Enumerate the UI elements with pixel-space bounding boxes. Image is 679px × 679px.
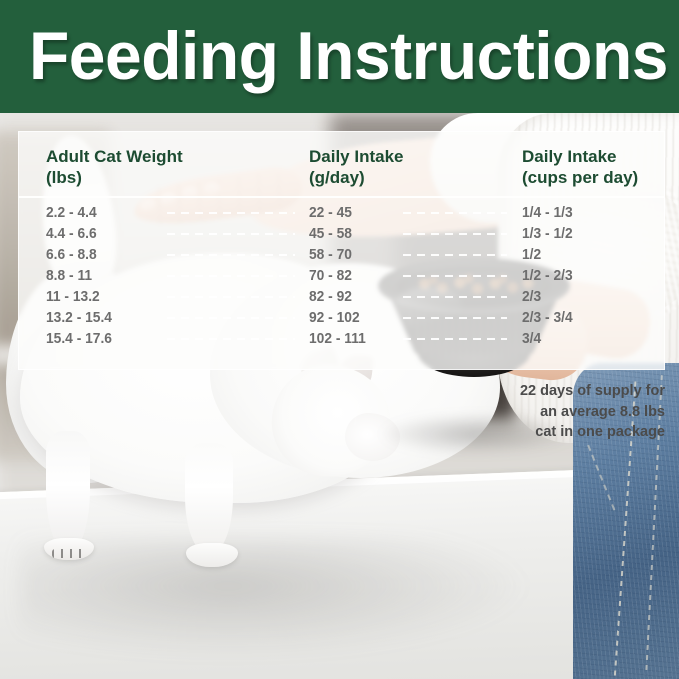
column-header-daily-intake-cups: Daily Intake (cups per day) — [522, 146, 638, 188]
table-row: 2.2 - 4.4 22 - 45 1/4 - 1/3 — [19, 202, 664, 223]
table-row: 13.2 - 15.4 92 - 102 2/3 - 3/4 — [19, 307, 664, 328]
cell-weight: 11 - 13.2 — [46, 286, 100, 307]
column-header-adult-cat-weight: Adult Cat Weight (lbs) — [46, 146, 183, 188]
cell-weight: 6.6 - 8.8 — [46, 244, 97, 265]
leader-dots — [403, 275, 507, 277]
cell-cups: 2/3 — [522, 286, 541, 307]
leader-dots — [403, 254, 507, 256]
cell-grams: 22 - 45 — [309, 202, 352, 223]
leader-dots — [167, 212, 295, 214]
header-divider — [19, 196, 664, 198]
leader-dots — [403, 233, 507, 235]
table-row: 4.4 - 6.6 45 - 58 1/3 - 1/2 — [19, 223, 664, 244]
leader-dots — [167, 317, 295, 319]
feeding-chart-header-row: Adult Cat Weight (lbs) Daily Intake (g/d… — [19, 132, 664, 196]
cell-weight: 13.2 - 15.4 — [46, 307, 112, 328]
cell-weight: 4.4 - 6.6 — [46, 223, 97, 244]
cell-weight: 15.4 - 17.6 — [46, 328, 112, 349]
feeding-chart-rows: 2.2 - 4.4 22 - 45 1/4 - 1/3 4.4 - 6.6 45… — [19, 202, 664, 349]
cell-grams: 70 - 82 — [309, 265, 352, 286]
leader-dots — [403, 212, 507, 214]
cell-cups: 1/4 - 1/3 — [522, 202, 573, 223]
cell-grams: 58 - 70 — [309, 244, 352, 265]
feeding-chart-card: Adult Cat Weight (lbs) Daily Intake (g/d… — [18, 131, 665, 370]
counter-shadow — [20, 538, 540, 658]
leader-dots — [167, 254, 295, 256]
leader-dots — [167, 275, 295, 277]
cat-claws — [52, 549, 86, 558]
column-header-daily-intake-grams: Daily Intake (g/day) — [309, 146, 404, 188]
leader-dots — [167, 233, 295, 235]
table-row: 15.4 - 17.6 102 - 111 3/4 — [19, 328, 664, 349]
cat-hind-leg — [46, 431, 90, 551]
cell-cups: 1/3 - 1/2 — [522, 223, 573, 244]
header-banner: Feeding Instructions — [0, 0, 679, 113]
supply-duration-note: 22 days of supply for an average 8.8 lbs… — [470, 381, 665, 443]
cell-cups: 1/2 - 2/3 — [522, 265, 573, 286]
cell-cups: 3/4 — [522, 328, 541, 349]
cell-grams: 45 - 58 — [309, 223, 352, 244]
cell-grams: 92 - 102 — [309, 307, 360, 328]
leader-dots — [167, 338, 295, 340]
cell-cups: 2/3 - 3/4 — [522, 307, 573, 328]
leader-dots — [403, 317, 507, 319]
cell-grams: 82 - 92 — [309, 286, 352, 307]
cell-cups: 1/2 — [522, 244, 541, 265]
table-row: 8.8 - 11 70 - 82 1/2 - 2/3 — [19, 265, 664, 286]
table-row: 11 - 13.2 82 - 92 2/3 — [19, 286, 664, 307]
leader-dots — [403, 338, 507, 340]
table-row: 6.6 - 8.8 58 - 70 1/2 — [19, 244, 664, 265]
feeding-instructions-panel: Feeding Instructions Adult Cat Weight (l… — [0, 0, 679, 679]
page-title: Feeding Instructions — [29, 17, 668, 95]
cell-weight: 2.2 - 4.4 — [46, 202, 97, 223]
leader-dots — [403, 296, 507, 298]
cat-front-leg — [185, 443, 233, 553]
leader-dots — [167, 296, 295, 298]
cell-weight: 8.8 - 11 — [46, 265, 92, 286]
cell-grams: 102 - 111 — [309, 328, 366, 349]
